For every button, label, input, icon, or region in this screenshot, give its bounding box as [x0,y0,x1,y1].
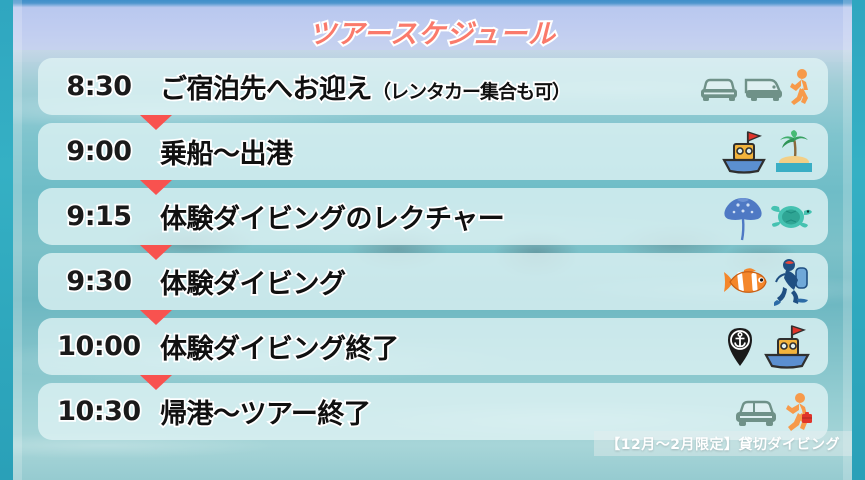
schedule-row[interactable]: 9:15 体験ダイビングのレクチャー [38,188,828,245]
schedule-icons [718,128,828,176]
schedule-icons [720,192,828,242]
right-edge-highlight [843,0,852,480]
schedule-label: 乗船〜出港 [160,132,718,171]
schedule-time: 8:30 [38,71,160,102]
left-edge-highlight [13,0,22,480]
schedule-icons [722,256,828,308]
schedule-label-main: 帰港〜ツアー終了 [160,399,370,430]
connector-arrow [140,245,172,260]
schedule-row[interactable]: 8:30 ご宿泊先へお迎え（レンタカー集合も可） [38,58,828,115]
schedule-label-main: 体験ダイビング終了 [160,334,399,365]
tour-schedule-infographic: ツアースケジュール 8:30 ご宿泊先へお迎え（レンタカー集合も可） [0,0,865,480]
schedule-label: 帰港〜ツアー終了 [160,392,732,431]
scuba-diver-icon [774,256,814,308]
schedule-label-main: ご宿泊先へお迎え [160,74,372,105]
car-icon [744,71,784,103]
schedule-icons [698,68,828,106]
schedule-time: 10:00 [38,331,160,362]
walking-person-icon [788,68,814,106]
left-edge-bar [0,0,13,480]
schedule-label: 体験ダイビングのレクチャー [160,197,720,236]
schedule-label-main: 体験ダイビング [160,269,346,300]
anchor-pin-icon [724,326,756,368]
sea-turtle-icon [770,197,814,237]
schedule-icons [724,323,828,371]
schedule-list: 8:30 ご宿泊先へお迎え（レンタカー集合も可） [38,58,828,448]
manta-ray-icon [720,192,766,242]
footer-banner: 【12月〜2月限定】貸切ダイビング [594,431,852,456]
schedule-label: ご宿泊先へお迎え（レンタカー集合も可） [160,67,698,106]
schedule-row[interactable]: 10:00 体験ダイビング終了 [38,318,828,375]
schedule-time: 9:00 [38,136,160,167]
connector-arrow [140,375,172,390]
schedule-row[interactable]: 9:30 体験ダイビング [38,253,828,310]
car-icon [732,395,780,429]
schedule-time: 9:15 [38,201,160,232]
palm-island-icon [774,130,814,174]
connector-arrow [140,310,172,325]
page-title: ツアースケジュール [0,12,865,51]
schedule-time: 9:30 [38,266,160,297]
schedule-label: 体験ダイビング [160,262,722,301]
schedule-time: 10:30 [38,396,160,427]
car-icon [698,71,740,103]
schedule-label-main: 乗船〜出港 [160,139,293,170]
schedule-label-sub: （レンタカー集合も可） [372,81,570,103]
boat-icon [760,323,814,371]
schedule-icons [732,392,828,432]
boat-icon [718,128,770,176]
schedule-label-main: 体験ダイビングのレクチャー [160,204,504,235]
clownfish-icon [722,264,770,300]
connector-arrow [140,115,172,130]
schedule-label: 体験ダイビング終了 [160,327,724,366]
right-edge-bar [852,0,865,480]
walking-person-briefcase-icon [784,392,814,432]
schedule-row[interactable]: 9:00 乗船〜出港 [38,123,828,180]
footer-text: 【12月〜2月限定】貸切ダイビング [606,434,840,454]
connector-arrow [140,180,172,195]
